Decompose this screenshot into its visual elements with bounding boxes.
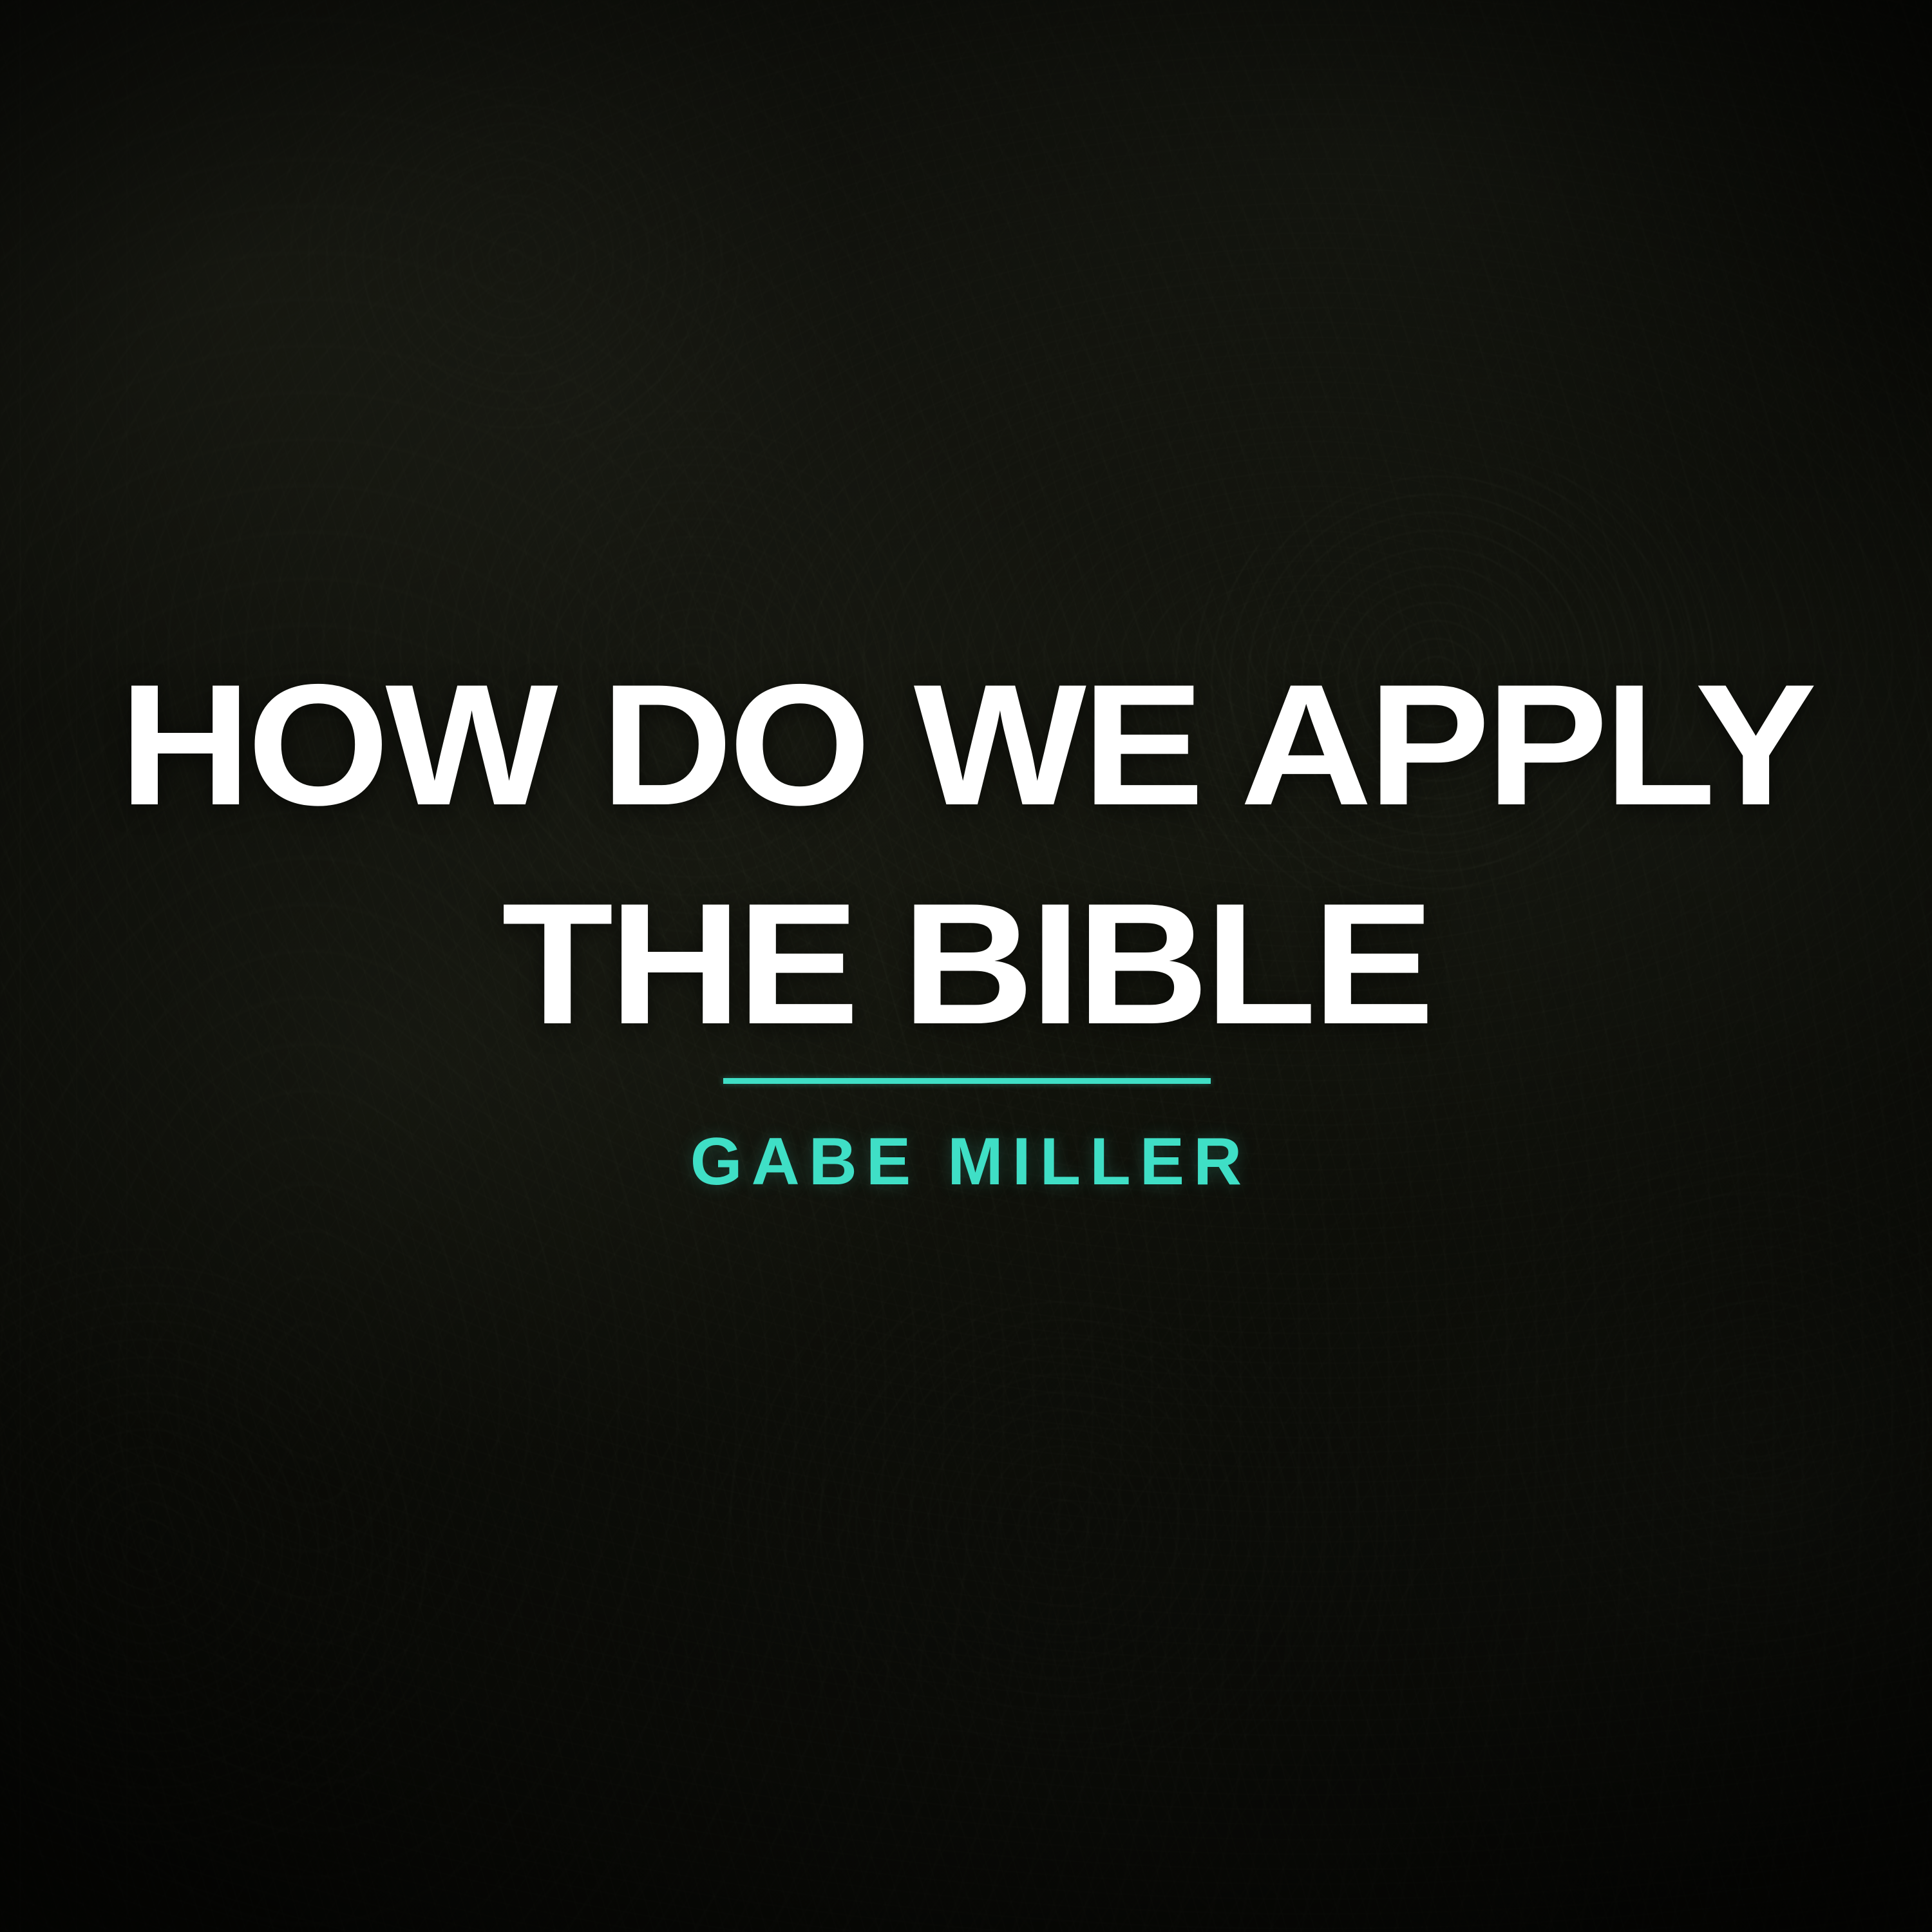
sermon-title-slide: HOW DO WE APPLY THE BIBLE GABE MILLER: [0, 0, 1932, 1932]
presenter-name: GABE MILLER: [0, 1128, 1932, 1195]
headline-line-1: HOW DO WE APPLY: [0, 658, 1932, 831]
accent-divider: [723, 1078, 1211, 1084]
headline-line-2: THE BIBLE: [0, 877, 1932, 1050]
slide-content: HOW DO WE APPLY THE BIBLE GABE MILLER: [0, 0, 1932, 1932]
